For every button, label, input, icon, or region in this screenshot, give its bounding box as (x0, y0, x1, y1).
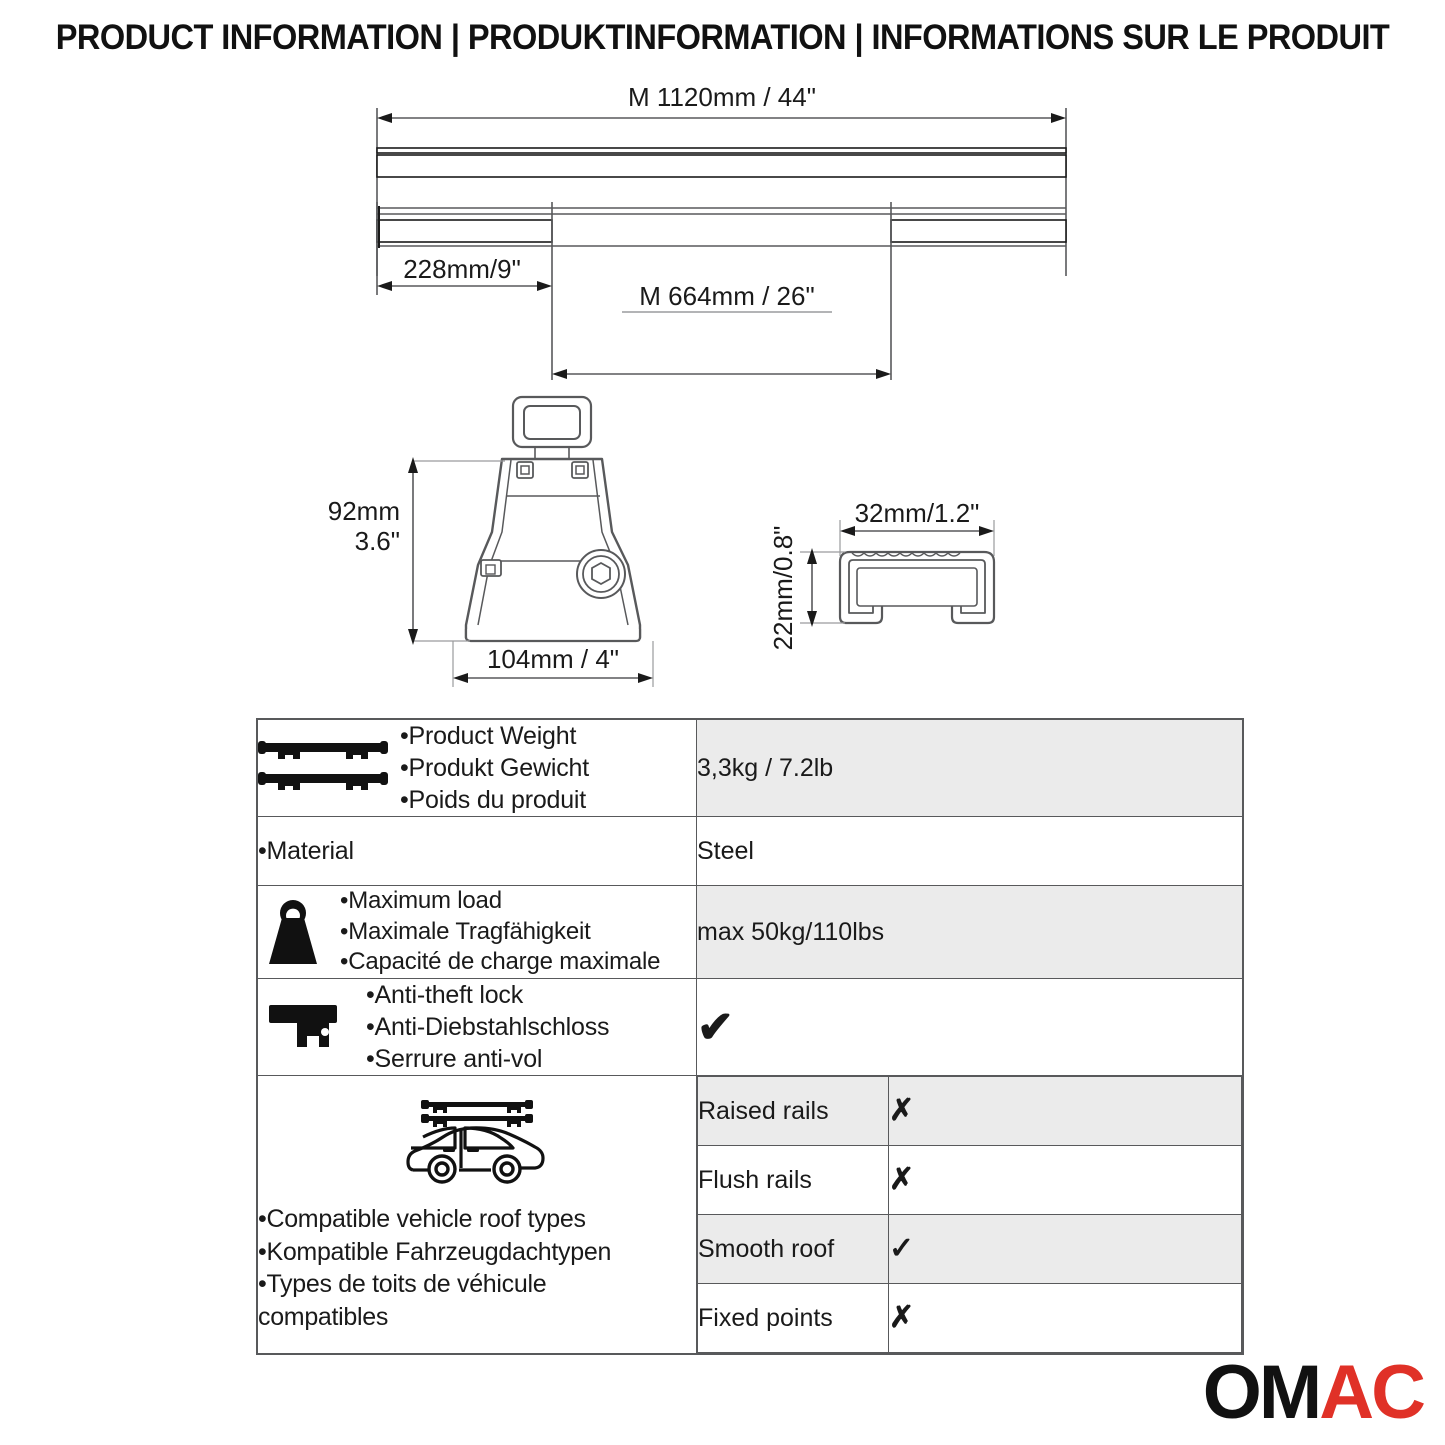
product-information-sheet: PRODUCT INFORMATION | PRODUKTINFORMATION… (0, 0, 1445, 1445)
specifications-table: •Product Weight •Produkt Gewicht •Poids … (256, 718, 1244, 1355)
anti-theft-lock-labels: •Anti-theft lock •Anti-Diebstahlschloss … (366, 979, 696, 1075)
label-line-fr: •Capacité de charge maximale (340, 947, 696, 978)
roof-type-mark: ✓ (889, 1215, 1242, 1284)
roof-type-mark: ✗ (889, 1146, 1242, 1215)
page-title: PRODUCT INFORMATION | PRODUKTINFORMATION… (51, 18, 1395, 58)
checkmark-icon: ✔ (697, 1003, 734, 1052)
roof-type-name: Smooth roof (698, 1215, 889, 1284)
label-line-fr: •Poids du produit (400, 784, 696, 816)
label-line-en: •Maximum load (340, 886, 696, 917)
cross-icon: ✗ (889, 1163, 914, 1196)
maximum-load-labels: •Maximum load •Maximale Tragfähigkeit •C… (340, 886, 696, 978)
label-line-en: •Material (258, 835, 696, 867)
roof-type-name: Fixed points (698, 1284, 889, 1353)
logo-text-ac: AC (1319, 1355, 1423, 1431)
anti-theft-lock-value: ✔ (697, 979, 1244, 1076)
roof-type-name: Raised rails (698, 1077, 889, 1146)
maximum-load-value: max 50kg/110lbs (697, 886, 1244, 979)
car-with-roof-rack-icon (397, 1096, 557, 1195)
label-line-de: •Produkt Gewicht (400, 752, 696, 784)
product-weight-label-cell: •Product Weight •Produkt Gewicht •Poids … (257, 719, 697, 817)
material-labels: •Material (258, 835, 696, 867)
product-weight-value: 3,3kg / 7.2lb (697, 719, 1244, 817)
label-line-de: •Anti-Diebstahlschloss (366, 1011, 696, 1043)
label-line-de: •Maximale Tragfähigkeit (340, 917, 696, 948)
table-row: •Maximum load •Maximale Tragfähigkeit •C… (257, 886, 1243, 979)
cross-icon: ✗ (889, 1301, 914, 1334)
roof-type-mark: ✗ (889, 1077, 1242, 1146)
label-line-fr-cont: compatibles (258, 1301, 611, 1334)
roof-rack-bars-icon (258, 737, 388, 799)
table-row: •Material Steel (257, 817, 1243, 886)
product-weight-labels: •Product Weight •Produkt Gewicht •Poids … (400, 720, 696, 816)
maximum-load-label-cell: •Maximum load •Maximale Tragfähigkeit •C… (257, 886, 697, 979)
weight-icon (258, 896, 328, 968)
label-line-fr: •Types de toits de véhicule (258, 1268, 611, 1301)
anti-theft-lock-label-cell: •Anti-theft lock •Anti-Diebstahlschloss … (257, 979, 697, 1076)
technical-drawing: M 1120mm / 44" 228mm/9" M 664mm / 26" 92… (0, 80, 1445, 710)
roof-type-mark: ✗ (889, 1284, 1242, 1353)
dimension-bar-spread: M 664mm / 26" (639, 281, 814, 311)
label-line-en: •Anti-theft lock (366, 979, 696, 1011)
cross-icon: ✗ (889, 1094, 914, 1127)
lock-icon (258, 1001, 354, 1053)
logo-text-om: OM (1203, 1355, 1319, 1431)
roof-type-row-raised-rails: Raised rails ✗ (698, 1077, 1242, 1146)
omac-logo: OM AC (1203, 1355, 1423, 1431)
table-row: •Product Weight •Produkt Gewicht •Poids … (257, 719, 1243, 817)
material-value: Steel (697, 817, 1244, 886)
roof-types-label-cell: •Compatible vehicle roof types •Kompatib… (257, 1076, 697, 1355)
label-line-de: •Kompatible Fahrzeugdachtypen (258, 1236, 611, 1269)
roof-types-sub-table: Raised rails ✗ Flush rails ✗ (697, 1076, 1242, 1353)
dimension-bar-length: M 1120mm / 44" (628, 82, 816, 112)
checkmark-icon: ✓ (889, 1232, 914, 1265)
roof-types-options-cell: Raised rails ✗ Flush rails ✗ (697, 1076, 1244, 1355)
dimension-profile-width: 32mm/1.2" (855, 498, 980, 528)
roof-type-row-smooth-roof: Smooth roof ✓ (698, 1215, 1242, 1284)
table-row: •Compatible vehicle roof types •Kompatib… (257, 1076, 1243, 1355)
dimension-foot-width: 104mm / 4" (487, 644, 619, 674)
roof-type-row-flush-rails: Flush rails ✗ (698, 1146, 1242, 1215)
table-row: •Anti-theft lock •Anti-Diebstahlschloss … (257, 979, 1243, 1076)
label-line-en: •Compatible vehicle roof types (258, 1203, 611, 1236)
label-line-fr: •Serrure anti-vol (366, 1043, 696, 1075)
dimension-profile-height: 22mm/0.8" (768, 526, 798, 651)
dimension-foot-height-in: 3.6" (355, 526, 400, 556)
dimension-foot-height-mm: 92mm (328, 496, 400, 526)
roof-type-name: Flush rails (698, 1146, 889, 1215)
label-line-en: •Product Weight (400, 720, 696, 752)
roof-types-labels: •Compatible vehicle roof types •Kompatib… (258, 1203, 611, 1333)
dimension-foot-offset: 228mm/9" (403, 254, 521, 284)
material-label-cell: •Material (257, 817, 697, 886)
roof-type-row-fixed-points: Fixed points ✗ (698, 1284, 1242, 1353)
